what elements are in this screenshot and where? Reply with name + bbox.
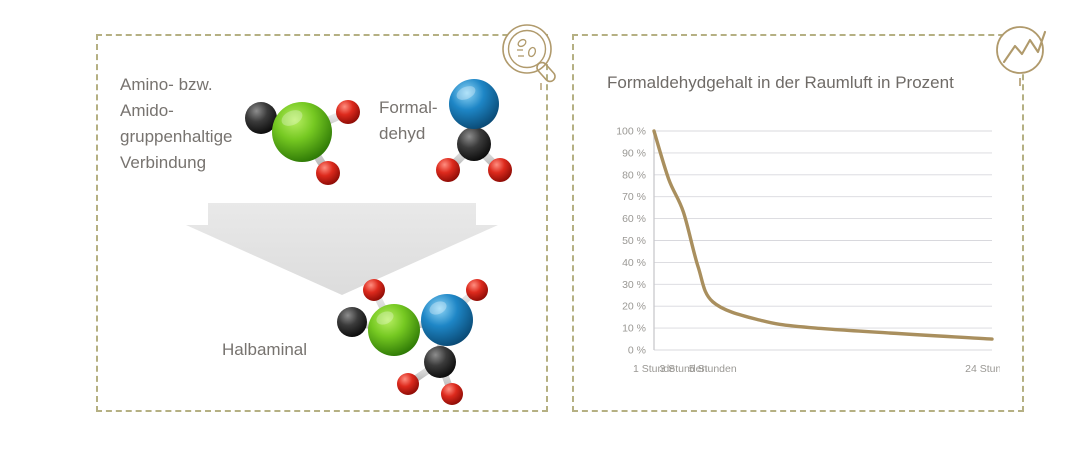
halbaminal-molecule-graphic	[322, 272, 510, 408]
y-axis-tick-label: 50 %	[622, 235, 646, 247]
y-axis-tick-label: 30 %	[622, 279, 646, 291]
y-axis-tick-label: 20 %	[622, 301, 646, 313]
y-axis-tick-label: 0 %	[628, 345, 646, 357]
page-root: Amino- bzw. Amido- gruppenhaltige Verbin…	[0, 0, 1080, 462]
halbaminal-label: Halbaminal	[222, 337, 307, 363]
y-axis-tick-label: 10 %	[622, 323, 646, 335]
trend-chart-circle-icon	[988, 20, 1060, 92]
x-axis-tick-label: 5 Stunden	[689, 363, 737, 375]
formaldehyde-molecule-graphic	[428, 68, 520, 188]
y-axis-tick-label: 100 %	[616, 126, 646, 138]
chart-title: Formaldehydgehalt in der Raumluft in Pro…	[607, 73, 954, 93]
formaldehyde-decay-chart: 100 %90 %80 %70 %60 %50 %40 %30 %20 %10 …	[600, 118, 1000, 378]
data-line-formaldehydgehalt	[654, 131, 992, 339]
y-axis-tick-label: 90 %	[622, 147, 646, 159]
y-axis-tick-label: 60 %	[622, 213, 646, 225]
x-axis-tick-label: 24 Stunden	[965, 363, 1000, 375]
amino-molecule-graphic	[236, 80, 370, 192]
y-axis-tick-label: 70 %	[622, 191, 646, 203]
y-axis-tick-label: 40 %	[622, 257, 646, 269]
y-axis-tick-label: 80 %	[622, 169, 646, 181]
